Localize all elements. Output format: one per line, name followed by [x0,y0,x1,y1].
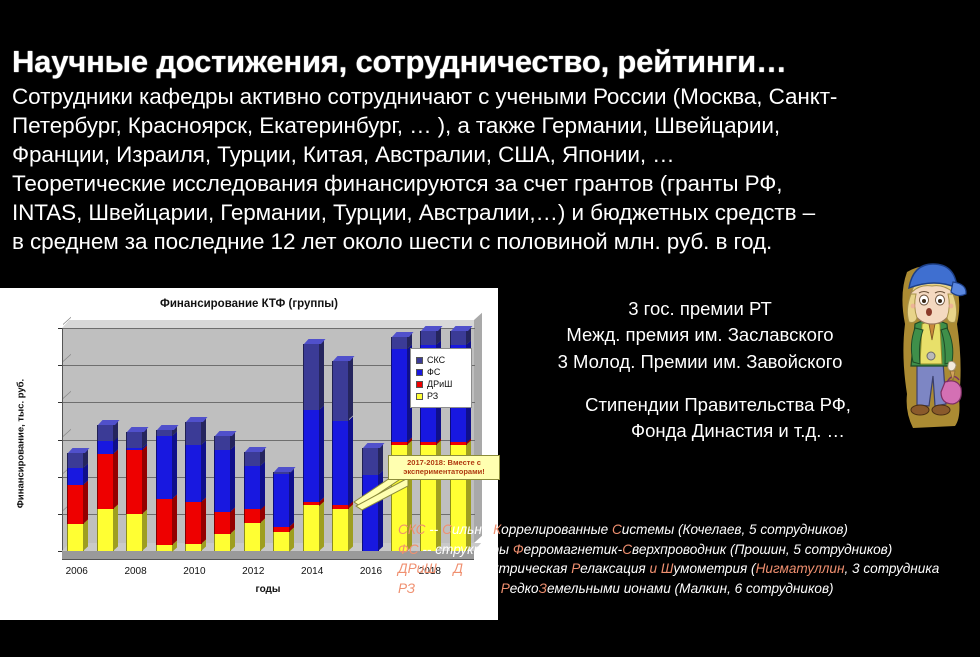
chart-x-tick-label: 2010 [174,566,214,577]
key-line: РЗ - системы с РедкоЗемельными ионами (М… [398,579,980,599]
chart-bar [156,328,173,551]
header-text-block: Научные достижения, сотрудничество, рейт… [0,0,980,256]
chart-bar-segment [214,534,231,551]
key-text: ерромагнетик- [524,542,623,557]
chart-bar-segment [214,436,231,450]
key-abbreviation: ДРиШ [398,561,437,576]
chart-bar [185,328,202,551]
key-highlight-text: Нигматуллин [756,561,845,576]
chart-bar-segment [450,442,467,445]
key-highlight-text: Р [501,581,510,596]
chart-bar-segment [126,514,143,551]
chart-bar-segment [332,505,349,509]
chart-legend-item: СКС [416,355,467,365]
chart-bar-segment [332,509,349,551]
key-highlight-text: С [442,522,452,537]
key-text: системы с [427,581,501,596]
key-line: ДРиШ -- Диэлектрическая Релаксация и Шум… [398,559,980,579]
chart-bar-top [363,443,385,448]
chart-bar-segment [126,432,143,448]
chart-bar-segment-side [113,505,118,551]
chart-bar-segment-side [319,501,324,551]
chart-bar-segment [67,524,84,551]
chart-bar-segment-side [260,519,265,551]
key-highlight-text: Ш [661,561,674,576]
key-text: верхпроводник (Прошин, 5 сотрудников) [632,542,892,557]
chart-bar-segment [156,545,173,552]
chart-gridline [63,328,475,329]
chart-bar-segment [185,422,202,445]
key-text: оррелированные [501,522,612,537]
chart-bar-segment [126,448,143,450]
chart-bar [391,328,408,551]
chart-bar-segment [273,474,290,527]
key-text: , 3 сотрудника [844,561,939,576]
chart-title: Финансирование КТФ (группы) [0,298,498,310]
intro-paragraph-line: Теоретические исследования финансируются… [12,170,972,199]
award-line: 3 гос. премии РТ [490,296,910,322]
page-title: Научные достижения, сотрудничество, рейт… [12,46,972,77]
chart-bar [362,328,379,551]
chart-bar-segment-side [142,445,147,514]
chart-bar-segment-side [83,481,88,525]
key-highlight-text: Ф [513,542,524,557]
chart-bar-segment [156,436,173,499]
grants-line-1: Стипендии Правительства РФ, [585,394,851,415]
intro-paragraph-line: INTAS, Швейцарии, Германии, Турции, Авст… [12,199,972,228]
chart-gridline [63,440,475,441]
chart-y-tick-mark [58,440,62,441]
chart-bar-segment [273,527,290,532]
chart-bar-segment [273,532,290,552]
key-dash: - [415,581,427,596]
chart-bar-segment-side [201,497,206,543]
key-highlight-text: К [493,522,501,537]
chart-legend-swatch [416,381,423,388]
chart-bar [303,328,320,551]
chart-bar-segment [303,344,320,410]
chart-bar-segment [391,442,408,445]
chart-bar-segment [214,450,231,512]
key-line: СКС -- Сильно Коррелированные Системы (К… [398,520,980,540]
key-highlight-text: С [622,542,632,557]
chart-bar-segment [332,421,349,506]
chart-gridline [63,514,475,515]
chart-y-tick-mark [58,551,62,552]
chart-bar-segment [185,544,202,551]
chart-legend-item: РЗ [416,391,467,401]
chart-bar [67,328,84,551]
key-abbreviation: СКС [398,522,426,537]
chart-bar [332,328,349,551]
chart-bar-segment [420,331,437,345]
key-abbreviation: ФС [398,542,419,557]
callout-line-2: экспериментаторами! [391,467,497,476]
chart-y-tick-mark [58,365,62,366]
chart-legend-label: РЗ [427,391,438,401]
chart-bar-segment [156,499,173,545]
intro-paragraph-line: в среднем за последние 12 лет около шест… [12,228,972,257]
key-text: едко [510,581,539,596]
chart-bar-segment [214,512,231,534]
chart-bar-segment-side [113,450,118,509]
key-dash: -- [426,522,443,537]
intro-paragraph-line: Франции, Израиля, Турции, Китая, Австрал… [12,141,972,170]
chart-legend-item: ДРиШ [416,379,467,389]
chart-bar-segment [273,472,290,474]
key-text: умометрия ( [673,561,755,576]
chart-legend-label: ФС [427,367,440,377]
chart-bar-top [98,420,120,425]
chart-bar-segment [244,509,261,523]
chart-y-tick-mark [58,514,62,515]
chart-bar-segment [332,361,349,420]
key-text: структуры [435,542,513,557]
grants-line-2: Фонда Династия и т.д. … [518,418,918,444]
key-highlight-text: З [539,581,547,596]
chart-x-tick-label: 2006 [57,566,97,577]
chart-bar-segment [185,502,202,544]
key-text: истемы (Кочелаев, 5 сотрудников) [622,522,848,537]
chart-bar-segment-side [172,431,177,499]
chart-bar-segment-side [201,441,206,502]
chart-bar-segment [67,468,84,485]
chart-bar [244,328,261,551]
chart-bar-segment [156,430,173,436]
intro-paragraph-line: Петербург, Красноярск, Екатеринбург, … )… [12,112,972,141]
chart-y-tick-mark [58,328,62,329]
chart-legend-item: ФС [416,367,467,377]
chart-bar-segment [97,425,114,442]
chart-bar-segment [126,450,143,514]
award-line: 3 Молод. Премии им. Завойского [490,349,910,375]
chart-bar-segment-side [319,405,324,501]
chart-bar-segment [67,485,84,524]
chart-bar-segment [67,453,84,468]
chart-bar-segment-side [172,494,177,544]
chart-legend-swatch [416,357,423,364]
award-line: Межд. премия им. Заславского [490,322,910,348]
chart-bar-segment [303,505,320,551]
key-text: емельными ионами (Малкин, 6 сотрудников) [547,581,834,596]
chart-y-axis-label: Финансирование, тыс. руб. [16,369,27,519]
awards-list: 3 гос. премии РТМежд. премия им. Заславс… [490,296,910,375]
chart-bar-segment-side [83,520,88,551]
chart-bar-segment-side [260,461,265,509]
chart-bar-segment [244,523,261,551]
chart-bar-segment [185,445,202,502]
plot-right-slab [474,313,482,543]
chart-bar-segment [391,349,408,442]
callout-box: 2017-2018: Вместе с экспериментаторами! [388,455,500,480]
chart-bar-segment [420,442,437,445]
chart-bar-segment [244,452,261,466]
callout-line-1: 2017-2018: Вместе с [391,458,497,467]
chart-bar-segment [244,466,261,510]
chart-bar-segment-side [289,469,294,526]
intro-paragraph: Сотрудники кафедры активно сотрудничают … [8,83,972,256]
chart-bar [126,328,143,551]
chart-x-tick-label: 2016 [351,566,391,577]
key-highlight-text: С [612,522,622,537]
chart-x-tick-label: 2014 [292,566,332,577]
chart-bar-segment-side [319,339,324,409]
chart-legend: СКСФСДРиШРЗ [410,348,472,408]
chart-bar-segment-side [142,509,147,551]
key-highlight-text: Д [453,561,463,576]
chart-bar-segment [97,509,114,551]
grants-text: Стипендии Правительства РФ, Фонда Династ… [518,392,918,445]
key-highlight-text: и [649,561,657,576]
key-text: иэлектрическая [463,561,571,576]
abbreviation-key: СКС -- Сильно Коррелированные Системы (К… [398,520,980,598]
chart-bar-segment [97,454,114,509]
slide-canvas: Научные достижения, сотрудничество, рейт… [0,0,980,657]
plot-top-slab [62,320,481,328]
chart-bar-segment [97,441,114,454]
chart-y-tick-mark [58,477,62,478]
chart-bar [214,328,231,551]
key-dash: -- [437,561,454,576]
chart-bar-segment [391,337,408,349]
key-text: елаксация [580,561,649,576]
chart-bar-segment-side [348,357,353,421]
cartoon-girl-icon [893,252,971,432]
chart-bar-segment [450,331,467,345]
chart-x-tick-label: 2012 [233,566,273,577]
chart-bar [273,328,290,551]
key-text: ильно [452,522,493,537]
chart-y-tick-mark [58,402,62,403]
key-abbreviation: РЗ [398,581,415,596]
chart-legend-swatch [416,369,423,376]
chart-bar-segment [303,410,320,502]
key-dash: -- [419,542,436,557]
chart-legend-label: СКС [427,355,445,365]
chart-x-tick-label: 2008 [116,566,156,577]
chart-bar-segment [303,502,320,506]
chart-legend-label: ДРиШ [427,379,452,389]
chart-bar [97,328,114,551]
key-line: ФС -- структуры Ферромагнетик-Сверхпрово… [398,540,980,560]
chart-legend-swatch [416,393,423,400]
intro-paragraph-line: Сотрудники кафедры активно сотрудничают … [12,83,972,112]
chart-bar-segment-side [230,445,235,512]
key-highlight-text: Р [571,561,580,576]
